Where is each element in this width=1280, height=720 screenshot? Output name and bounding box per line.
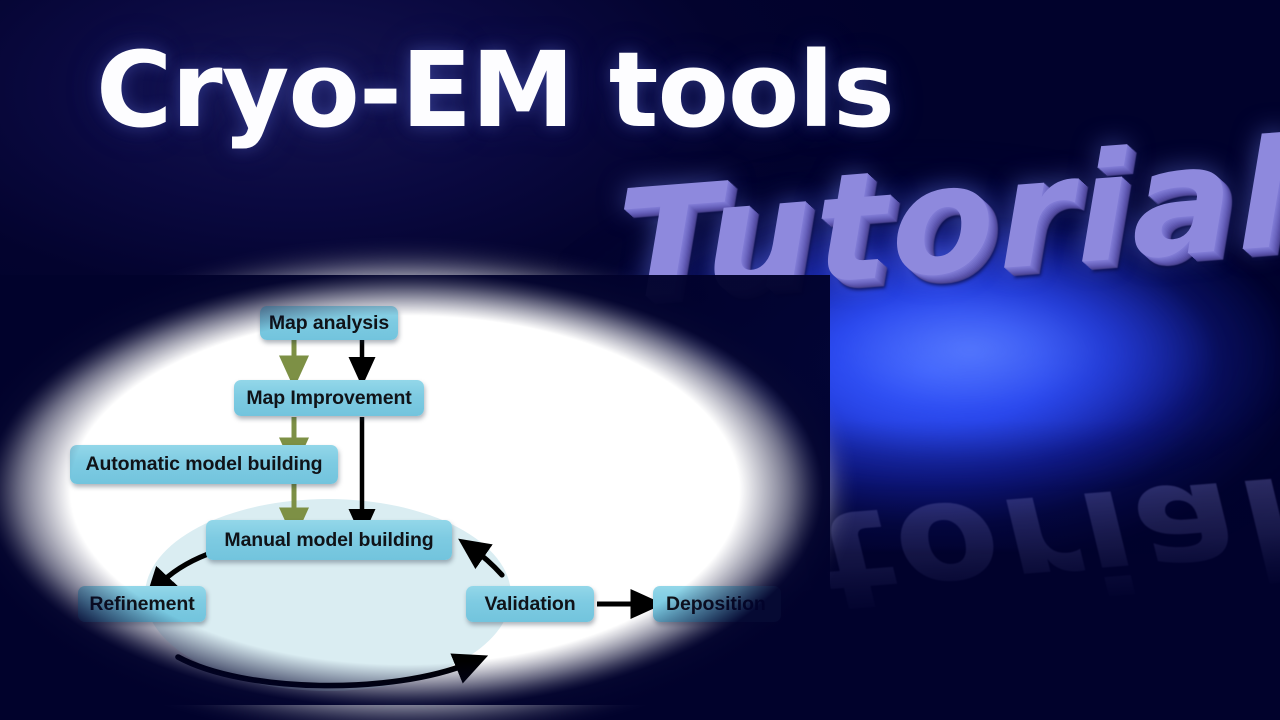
node-manual-model-building[interactable]: Manual model building [206,520,452,560]
flowchart-connectors [0,275,830,705]
node-label: Map analysis [269,312,389,335]
node-label: Automatic model building [85,453,322,476]
node-automatic-model-building[interactable]: Automatic model building [70,445,338,484]
node-label: Map Improvement [246,387,411,410]
node-refinement[interactable]: Refinement [78,586,206,622]
node-label: Refinement [89,593,194,616]
node-map-analysis[interactable]: Map analysis [260,306,398,340]
node-map-improvement[interactable]: Map Improvement [234,380,424,416]
flowchart: Map analysis Map Improvement Automatic m… [0,275,830,705]
node-deposition[interactable]: Deposition [653,586,781,622]
node-label: Manual model building [224,529,433,552]
node-validation[interactable]: Validation [466,586,594,622]
node-label: Deposition [666,593,766,616]
node-label: Validation [484,593,575,616]
slide-canvas: Tutorial Tutorial Cryo-EM tools [0,0,1280,720]
page-title: Cryo-EM tools [96,32,894,148]
